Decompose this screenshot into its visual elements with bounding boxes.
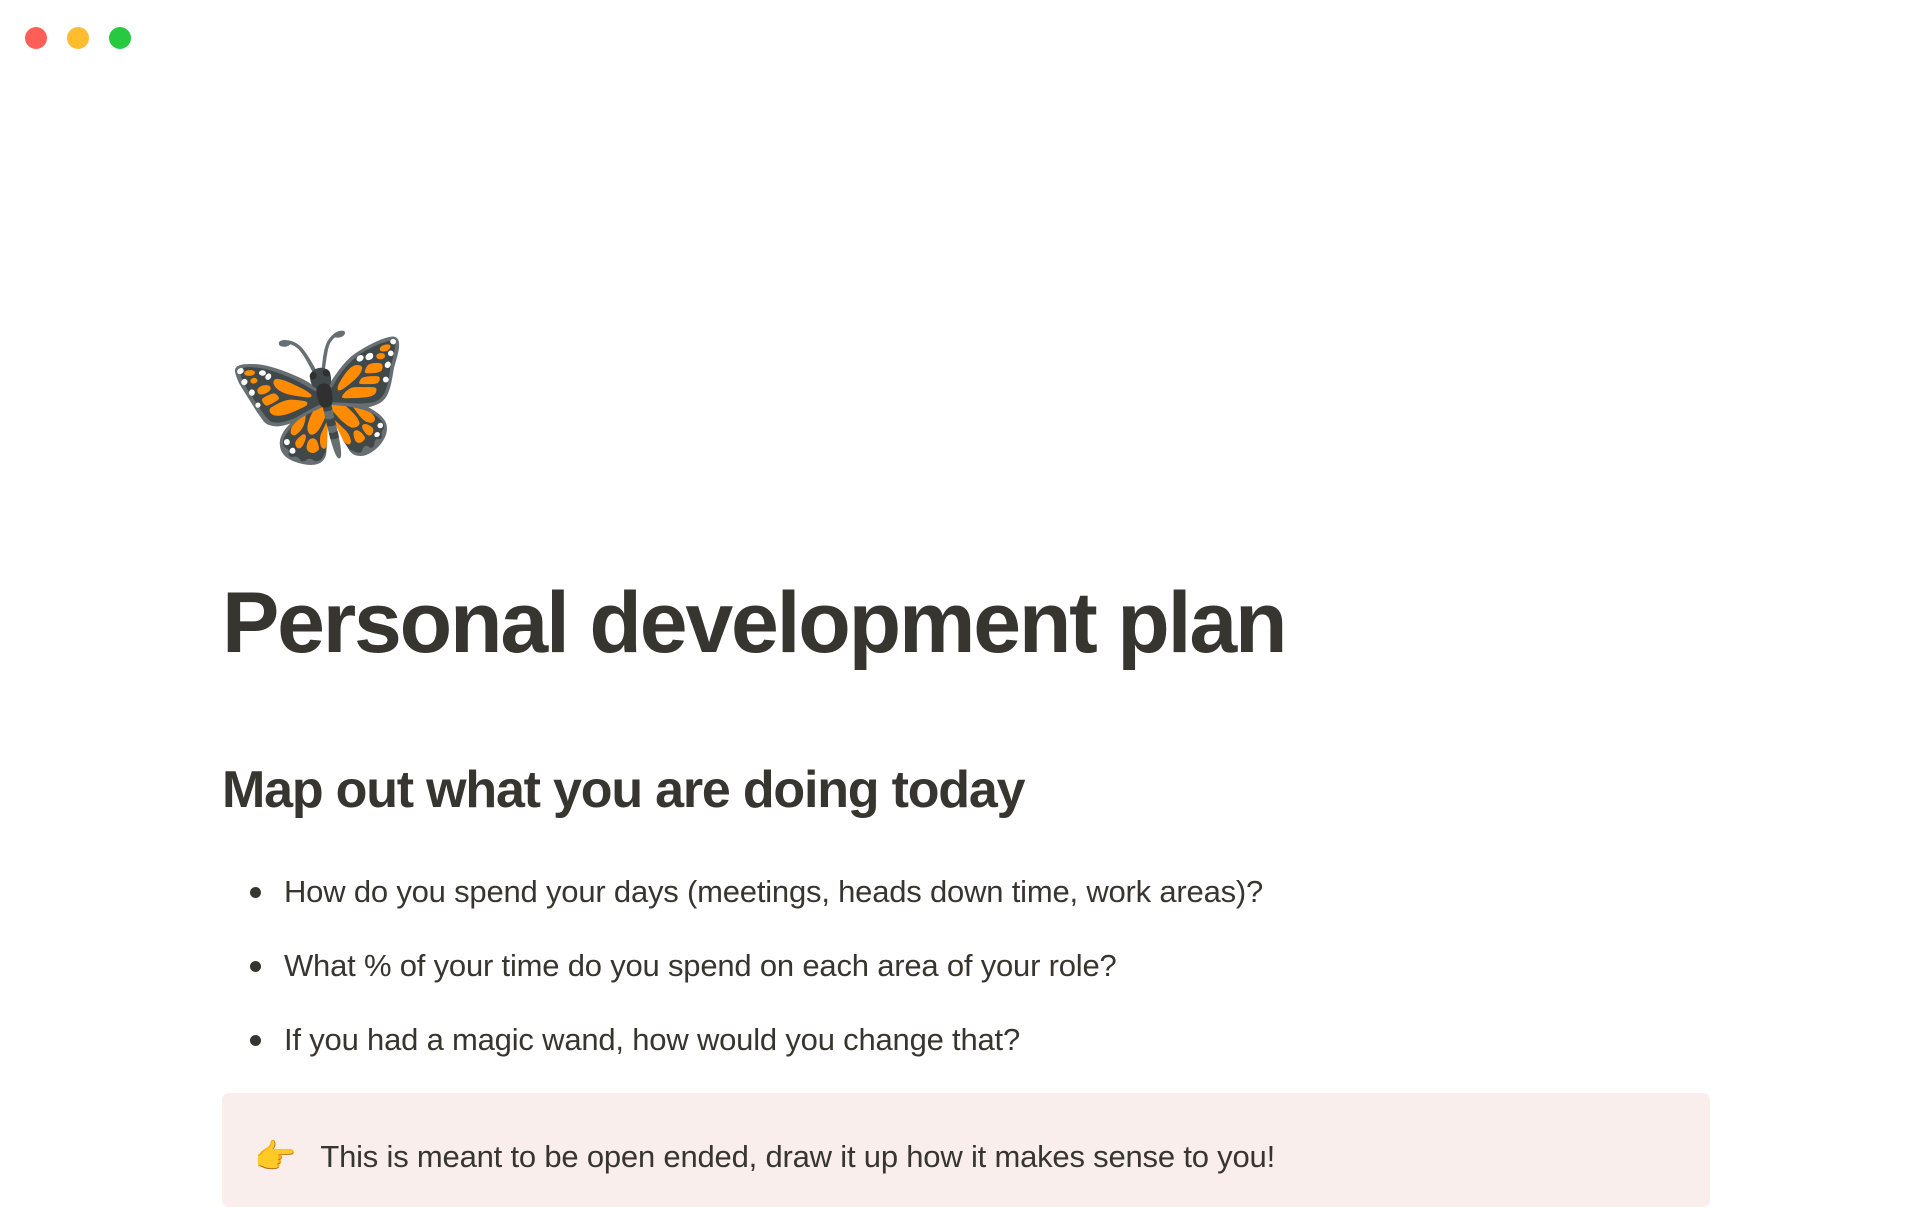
bullet-marker-icon	[250, 961, 261, 972]
document-page: 🦋 Personal development plan Map out what…	[0, 0, 1920, 1200]
section-heading[interactable]: Map out what you are doing today	[222, 762, 1024, 819]
pointing-right-icon: 👉	[254, 1137, 296, 1177]
bullet-marker-icon	[250, 887, 261, 898]
callout-block[interactable]: 👉 This is meant to be open ended, draw i…	[222, 1093, 1710, 1207]
list-item-text: How do you spend your days (meetings, he…	[284, 868, 1263, 916]
list-item-text: If you had a magic wand, how would you c…	[284, 1016, 1020, 1064]
list-item-text: What % of your time do you spend on each…	[284, 942, 1117, 990]
list-item[interactable]: If you had a magic wand, how would you c…	[222, 1016, 1712, 1064]
list-item[interactable]: How do you spend your days (meetings, he…	[222, 868, 1712, 916]
page-title[interactable]: Personal development plan	[222, 578, 1285, 668]
list-item[interactable]: What % of your time do you spend on each…	[222, 942, 1712, 990]
bullet-marker-icon	[250, 1035, 261, 1046]
butterfly-emoji[interactable]: 🦋	[224, 318, 411, 486]
bulleted-list: How do you spend your days (meetings, he…	[222, 868, 1712, 1090]
callout-text: This is meant to be open ended, draw it …	[320, 1137, 1275, 1177]
